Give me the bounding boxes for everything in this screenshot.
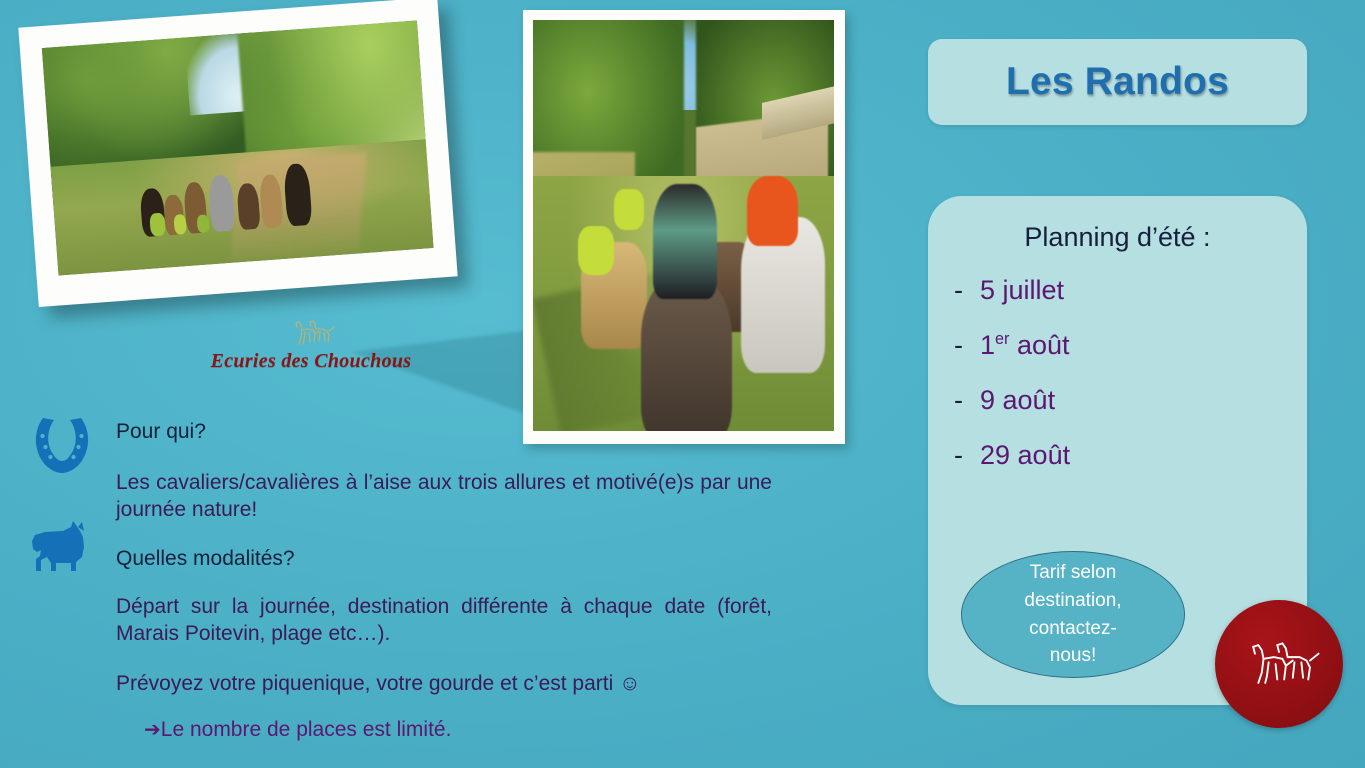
brand-logo: Ecuries des Chouchous <box>209 318 413 373</box>
list-bullet: - <box>954 330 980 361</box>
section-heading: Pour qui? <box>116 420 772 444</box>
slide-canvas: Ecuries des Chouchous Pour qui? Les cava… <box>0 0 1365 768</box>
tarif-line: contactez- <box>1029 615 1117 643</box>
hi-vis-rider-2 <box>614 189 644 230</box>
tarif-callout[interactable]: Tarif selon destination, contactez- nous… <box>961 551 1185 678</box>
horse-and-dog-line-drawing-icon <box>1236 638 1322 690</box>
section-modalites: Quelles modalités? <box>116 547 772 571</box>
orange-vest-rider <box>747 176 798 246</box>
tarif-line: destination, <box>1024 587 1121 615</box>
arrow-right-icon: ➔ <box>144 719 161 741</box>
section-modalites-body: Départ sur la journée, destination diffé… <box>116 594 772 648</box>
list-item[interactable]: - 5 juillet <box>954 275 1307 306</box>
section-heading: Quelles modalités? <box>116 547 772 571</box>
picnic-note: Prévoyez votre piquenique, votre gourde … <box>116 671 772 698</box>
brand-name: Ecuries des Chouchous <box>209 350 413 373</box>
title-box: Les Randos <box>928 39 1307 125</box>
date-label: 9 août <box>980 385 1055 416</box>
section-body: Départ sur la journée, destination diffé… <box>116 594 772 648</box>
horse-and-dog-line-drawing-icon <box>286 318 336 348</box>
section-pour-qui-body: Les cavaliers/cavalières à l’aise aux tr… <box>116 470 772 524</box>
planning-title: Planning d’été : <box>928 222 1307 253</box>
list-item[interactable]: - 29 août <box>954 440 1307 471</box>
photo-trail-ride-wooded-path[interactable] <box>18 0 457 307</box>
date-number: 1 <box>980 330 995 360</box>
page-title: Les Randos <box>1006 60 1229 104</box>
arrow-note-text: Le nombre de places est limité. <box>161 718 452 741</box>
front-horse <box>641 279 731 431</box>
section-pour-qui: Pour qui? <box>116 420 772 444</box>
list-bullet: - <box>954 440 980 471</box>
note-text: Prévoyez votre piquenique, votre gourde … <box>116 671 772 698</box>
riders-group <box>133 145 349 238</box>
date-label: 29 août <box>980 440 1070 471</box>
tarif-line: nous! <box>1050 642 1096 670</box>
tarif-line: Tarif selon <box>1030 559 1117 587</box>
arrow-note-row: ➔Le nombre de places est limité. <box>144 717 772 742</box>
photo-trail-ride-sunken-lane[interactable] <box>523 10 845 444</box>
brand-badge[interactable] <box>1215 600 1343 728</box>
horseshoe-icon <box>30 414 94 481</box>
date-month: août <box>1017 330 1070 360</box>
places-limited-line: ➔Le nombre de places est limité. <box>116 717 772 742</box>
list-item[interactable]: - 1er août <box>954 330 1307 361</box>
list-bullet: - <box>954 385 980 416</box>
date-label: 1er août <box>980 330 1070 361</box>
list-bullet: - <box>954 275 980 306</box>
section-body: Les cavaliers/cavalières à l’aise aux tr… <box>116 470 772 524</box>
photo-image <box>533 20 834 431</box>
planning-date-list: - 5 juillet - 1er août - 9 août - 29 aoû… <box>954 275 1307 471</box>
horse-icon <box>27 519 97 586</box>
date-label: 5 juillet <box>980 275 1064 306</box>
date-ordinal-suffix: er <box>995 330 1009 348</box>
photo-image <box>42 21 434 276</box>
hi-vis-rider-1 <box>578 226 614 275</box>
list-item[interactable]: - 9 août <box>954 385 1307 416</box>
front-rider <box>653 184 716 299</box>
